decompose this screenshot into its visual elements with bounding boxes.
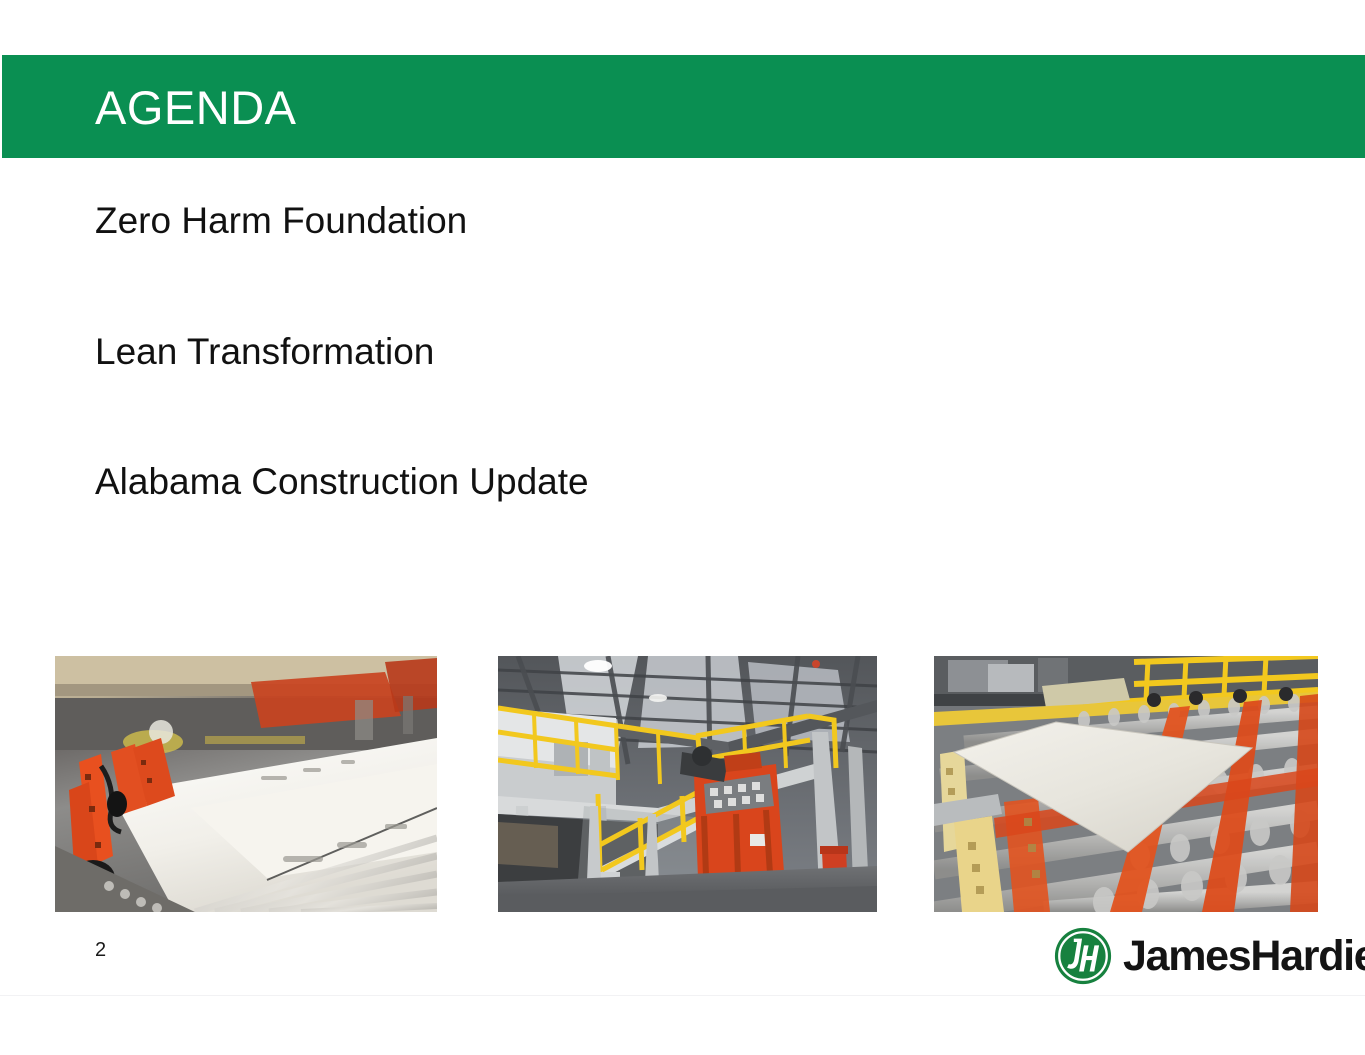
agenda-item-lean-transformation: Lean Transformation [95, 331, 1195, 374]
photo-3-image [934, 656, 1318, 912]
photo-fiber-cement-sheet-on-conveyor [55, 656, 437, 912]
logo-wordmark: JamesHardie™ [1123, 935, 1365, 978]
agenda-item-alabama-construction-update: Alabama Construction Update [95, 461, 1195, 504]
agenda-list: Zero Harm Foundation Lean Transformation… [95, 200, 1195, 504]
page-number: 2 [95, 940, 106, 960]
photo-plant-interior-with-stairs [498, 656, 877, 912]
photo-strip [55, 656, 1318, 912]
page-title: AGENDA [95, 84, 297, 131]
slide-bottom-edge [0, 995, 1365, 996]
photo-2-image [498, 656, 877, 912]
james-hardie-logo: JamesHardie™ [1052, 925, 1365, 987]
logo-wordmark-text: JamesHardie [1123, 932, 1365, 980]
photo-board-on-roller-table [934, 656, 1318, 912]
photo-1-image [55, 656, 437, 912]
jh-monogram-icon [1052, 925, 1114, 987]
agenda-item-zero-harm-foundation: Zero Harm Foundation [95, 200, 1195, 243]
agenda-slide: AGENDA Zero Harm Foundation Lean Transfo… [0, 0, 1365, 1055]
